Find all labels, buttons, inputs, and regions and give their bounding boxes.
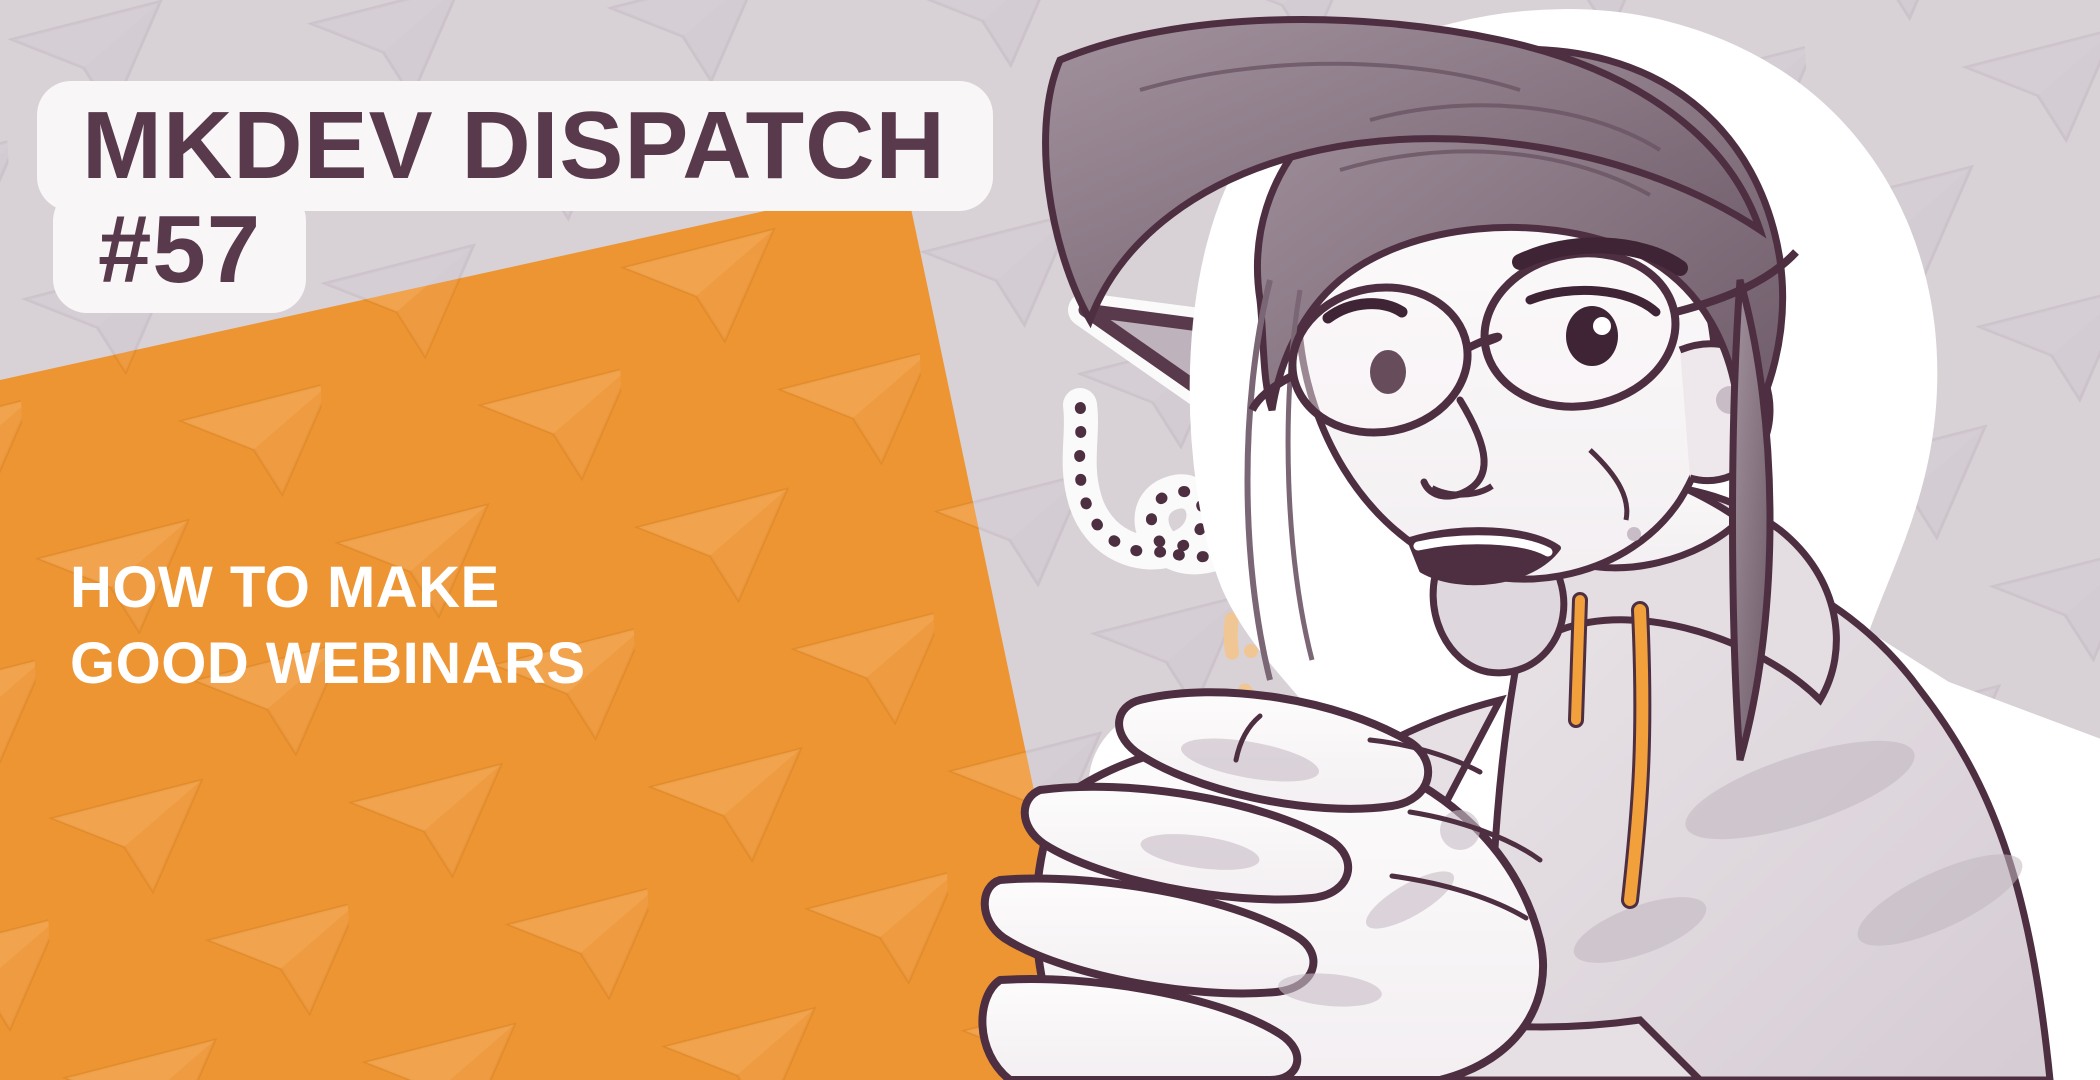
page-title: MKDEV DISPATCH — [46, 90, 984, 202]
newsletter-banner: MKDEV DISPATCH #57 HOW TO MAKE GOOD WEBI… — [0, 0, 2100, 1080]
person-illustration — [940, 0, 2100, 1080]
title-main-text: MKDEV DISPATCH — [82, 90, 946, 202]
issue-number-badge: #57 — [62, 196, 297, 304]
subtitle-line-1: HOW TO MAKE — [70, 550, 730, 626]
subtitle: HOW TO MAKE GOOD WEBINARS — [70, 550, 730, 702]
issue-number-text: #57 — [98, 196, 261, 304]
subtitle-line-2: GOOD WEBINARS — [70, 626, 730, 702]
